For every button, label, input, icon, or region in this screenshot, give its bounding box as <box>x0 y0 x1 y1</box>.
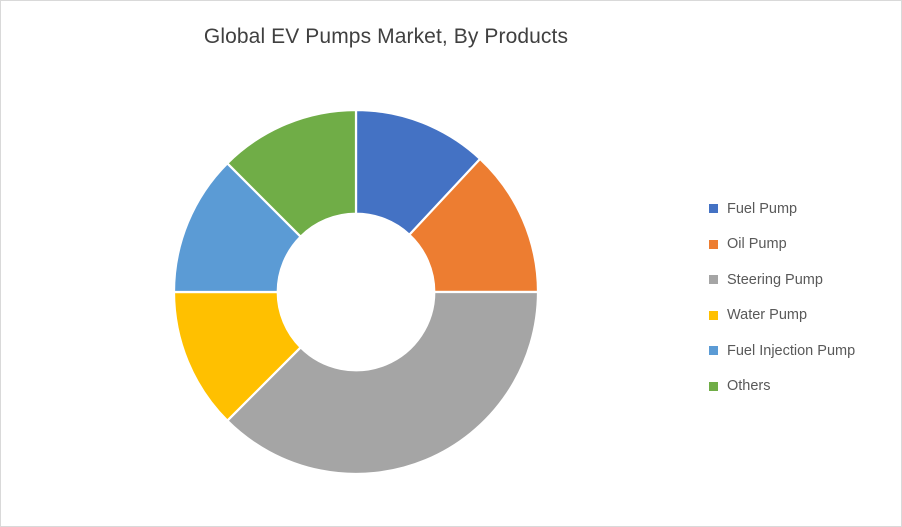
legend-label-water-pump: Water Pump <box>727 307 807 323</box>
chart-title: Global EV Pumps Market, By Products <box>1 25 771 49</box>
donut-chart-svg <box>172 108 540 476</box>
legend-label-others: Others <box>727 378 771 394</box>
chart-legend: Fuel PumpOil PumpSteering PumpWater Pump… <box>709 191 899 404</box>
legend-swatch-icon-oil-pump <box>709 240 718 249</box>
legend-swatch-icon-others <box>709 382 718 391</box>
legend-label-steering-pump: Steering Pump <box>727 272 823 288</box>
legend-label-oil-pump: Oil Pump <box>727 236 787 252</box>
legend-item-fuel-pump[interactable]: Fuel Pump <box>709 191 899 227</box>
legend-item-steering-pump[interactable]: Steering Pump <box>709 262 899 298</box>
legend-item-fuel-injection-pump[interactable]: Fuel Injection Pump <box>709 333 899 369</box>
legend-label-fuel-injection-pump: Fuel Injection Pump <box>727 343 855 359</box>
legend-item-others[interactable]: Others <box>709 369 899 405</box>
donut-chart: 30.00% <box>172 108 540 476</box>
legend-item-water-pump[interactable]: Water Pump <box>709 298 899 334</box>
donut-slices <box>174 110 538 474</box>
chart-canvas: Global EV Pumps Market, By Products 30.0… <box>0 0 902 527</box>
data-label-fuel-pump: 30.00% <box>553 262 609 281</box>
legend-swatch-icon-steering-pump <box>709 275 718 284</box>
legend-swatch-icon-water-pump <box>709 311 718 320</box>
legend-swatch-icon-fuel-pump <box>709 204 718 213</box>
legend-label-fuel-pump: Fuel Pump <box>727 201 797 217</box>
legend-item-oil-pump[interactable]: Oil Pump <box>709 227 899 263</box>
legend-swatch-icon-fuel-injection-pump <box>709 346 718 355</box>
